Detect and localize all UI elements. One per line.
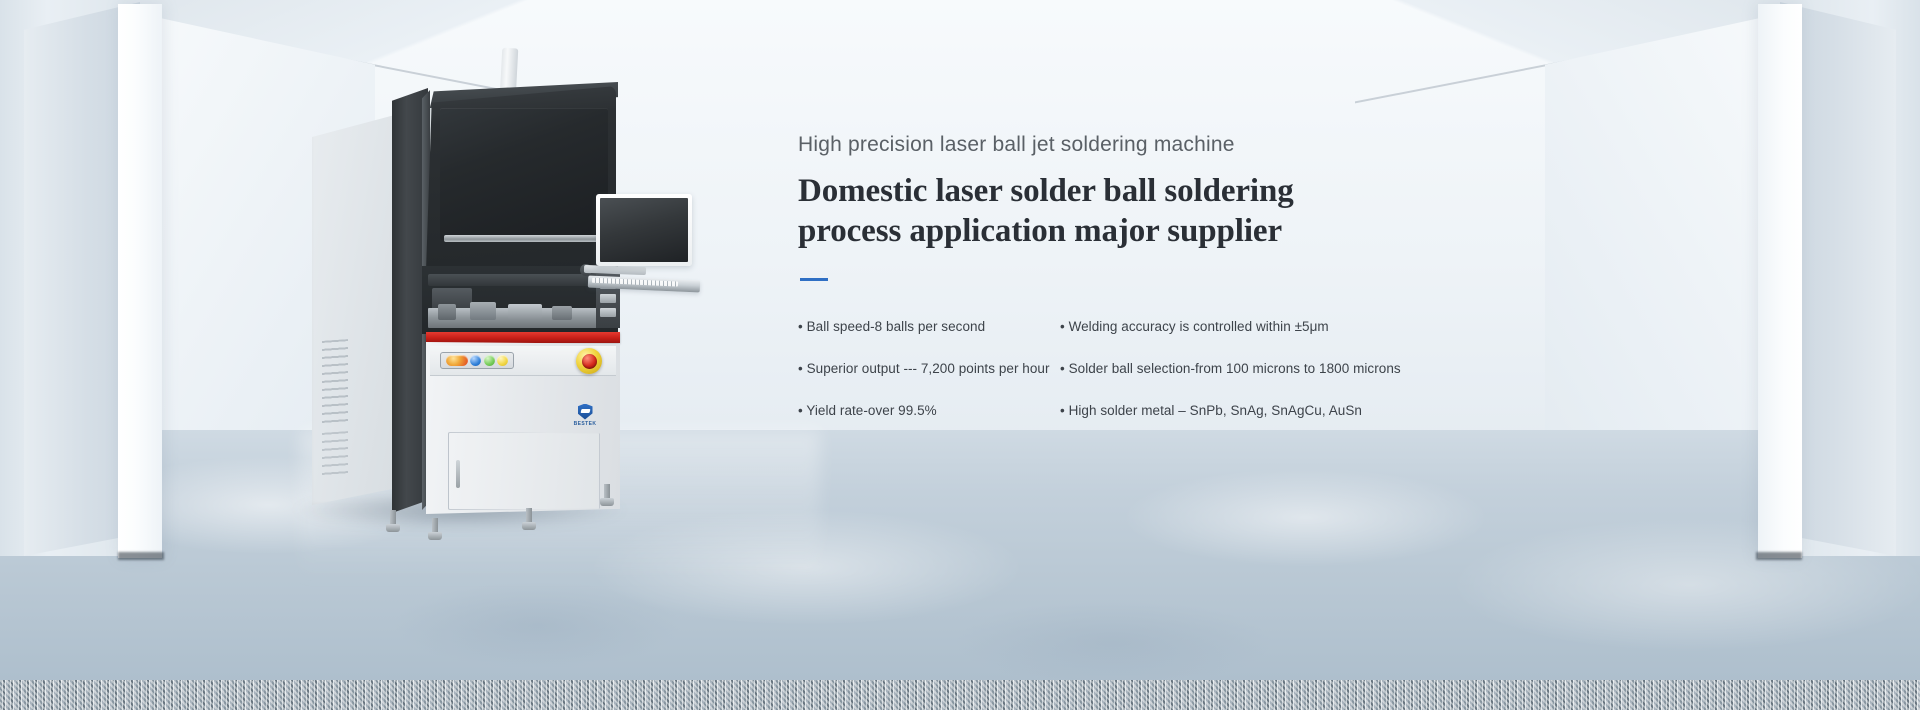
vent-grille-lower [322,431,348,479]
brand-logo: BESTEK [562,402,608,428]
machine-foot [600,484,614,506]
pillar-left-shadow [118,552,164,560]
hero-headline: Domestic laser solder ball soldering pro… [798,171,1358,252]
spec-item-right-1: • Welding accuracy is controlled within … [1060,318,1498,336]
spec-list: • Ball speed-8 balls per second • Weldin… [798,318,1498,421]
spec-item-left-3: • Yield rate-over 99.5% [798,402,1060,420]
monitor-screen [600,198,688,262]
machine-foot [428,518,442,540]
emergency-stop-button[interactable] [576,348,602,374]
headline-line-2: process application major supplier [798,211,1358,251]
lamp-yellow-icon[interactable] [497,355,508,366]
laser-soldering-machine: BESTEK [300,60,720,540]
gantry-rail [428,274,608,286]
pillar-right-shadow [1756,552,1802,560]
brand-logo-text: BESTEK [574,421,597,427]
machine-foot [522,508,536,530]
hood-handle [444,235,604,242]
spec-item-right-2: • Solder ball selection-from 100 microns… [1060,360,1498,378]
product-hero-banner: BESTEK High precision laser ball jet sol… [0,0,1920,710]
hood-viewing-window [440,108,608,240]
cabinet-door-handle[interactable] [456,460,460,488]
emergency-stop-icon [582,354,597,369]
floor-texture [0,430,1920,680]
indicator-lamp-cluster[interactable] [440,352,514,369]
red-accent-band [426,332,620,343]
pillar-left-front [118,4,162,558]
bottom-texture-strip [0,680,1920,710]
hero-text-block: High precision laser ball jet soldering … [798,132,1498,281]
lamp-blue-icon[interactable] [470,355,481,366]
stage-fixture-4 [552,306,572,320]
hero-eyebrow: High precision laser ball jet soldering … [798,132,1498,157]
spec-item-left-2: • Superior output --- 7,200 points per h… [798,360,1060,378]
floor-plane [0,430,1920,680]
machine-foot [386,510,400,532]
stage-fixture-3 [508,304,542,319]
accent-divider [800,278,828,281]
lamp-red-icon[interactable] [446,355,468,366]
operator-monitor [596,194,692,266]
lamp-green-icon[interactable] [484,355,495,366]
stage-fixture-2 [470,302,496,320]
spec-item-left-1: • Ball speed-8 balls per second [798,318,1060,336]
pillar-right-front [1758,4,1802,558]
vent-grille-upper [322,339,348,425]
spec-item-right-3: • High solder metal – SnPb, SnAg, SnAgCu… [1060,402,1498,420]
shield-icon [578,404,593,420]
stage-fixture-1 [438,304,456,320]
headline-line-1: Domestic laser solder ball soldering [798,171,1358,211]
cabinet-door[interactable] [448,432,600,510]
